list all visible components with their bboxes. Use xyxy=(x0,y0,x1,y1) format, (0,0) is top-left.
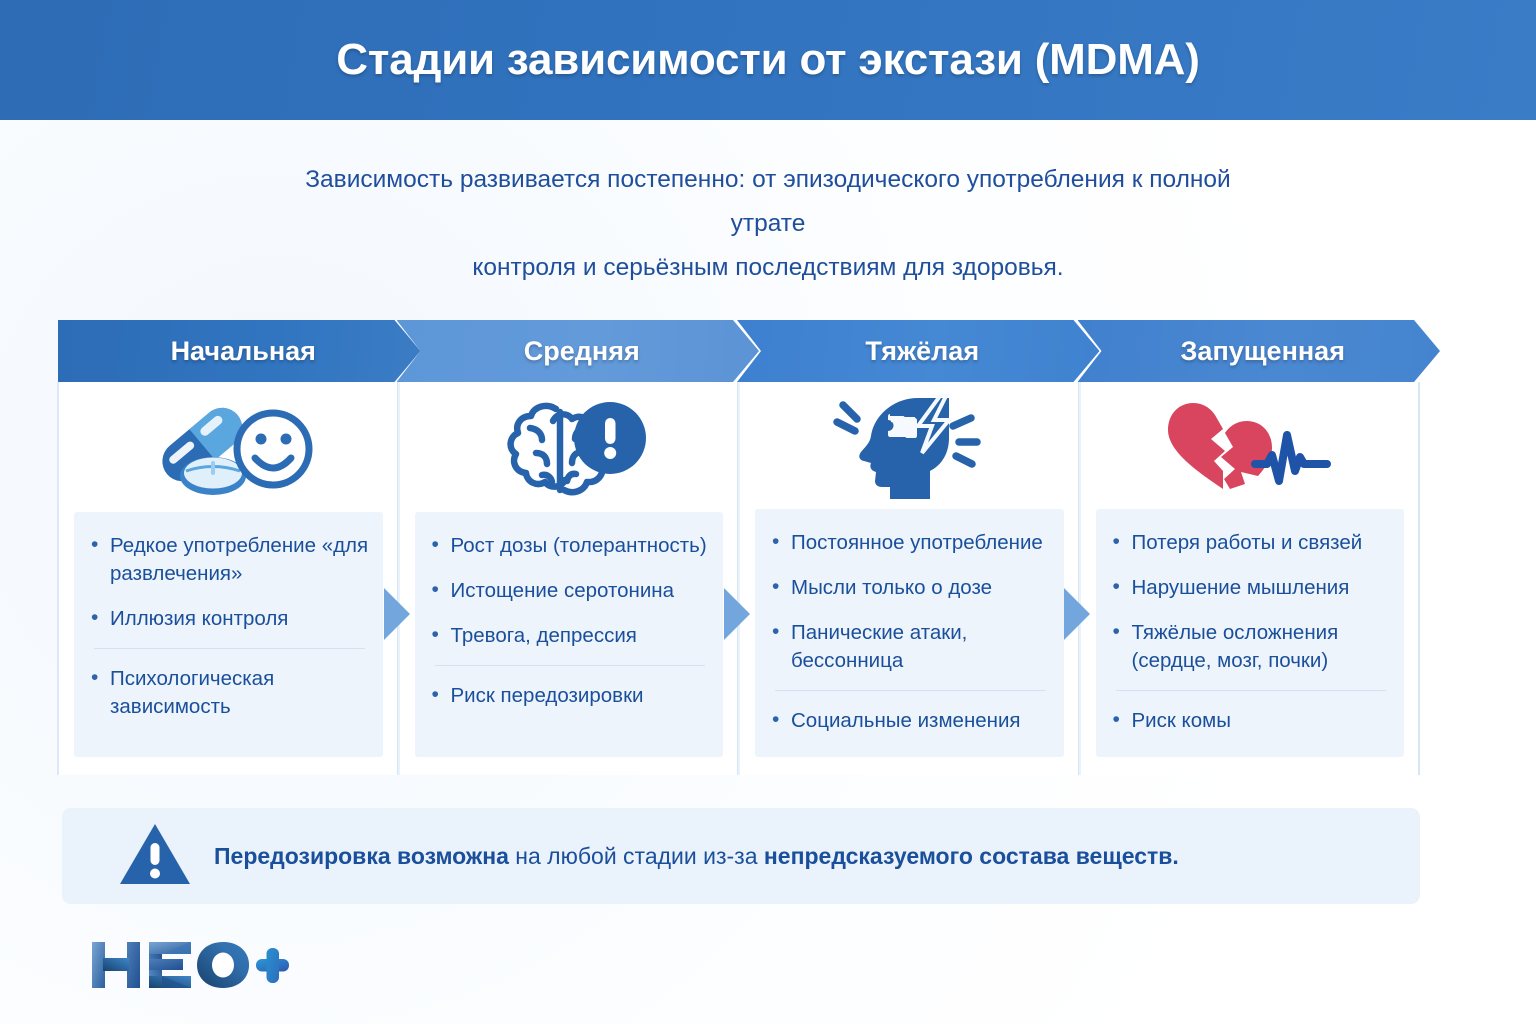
pills-smiley-icon xyxy=(141,395,316,500)
warning-text: Передозировка возможна на любой стадии и… xyxy=(214,841,1179,871)
list-item: Социальные изменения xyxy=(769,690,1050,735)
logo-neo-plus[interactable]: НЕО+ xyxy=(90,936,290,999)
list-item: Потеря работы и связей xyxy=(1110,529,1391,557)
warning-bold-start: Передозировка возможна xyxy=(214,843,509,869)
stage-label-4: Запущенная xyxy=(1181,336,1345,367)
stage-card-tyazhelaya[interactable]: Тяжёлая xyxy=(739,320,1080,775)
page-header-bar: Стадии зависимости от экстази (MDMA) xyxy=(0,0,1536,120)
infographic-page: Стадии зависимости от экстази (MDMA) Зав… xyxy=(0,0,1536,1024)
page-title: Стадии зависимости от экстази (MDMA) xyxy=(336,35,1199,85)
warning-bold-end: непредсказуемого состава веществ. xyxy=(764,843,1179,869)
list-item: Панические атаки, бессонница xyxy=(769,619,1050,675)
stage-cards: Начальная xyxy=(58,320,1420,775)
warning-triangle-icon xyxy=(118,822,192,891)
stage-card-srednyaya[interactable]: Средняя xyxy=(399,320,740,775)
list-item: Постоянное употребление xyxy=(769,529,1050,557)
list-item: Психологическая зависимость xyxy=(88,648,369,721)
stage-label-2: Средняя xyxy=(524,336,640,367)
stage-header-2[interactable]: Средняя xyxy=(397,320,760,382)
stage-header-3[interactable]: Тяжёлая xyxy=(737,320,1100,382)
stage-header-1[interactable]: Начальная xyxy=(58,320,421,382)
stages-panel: Начальная xyxy=(58,320,1420,775)
brain-alert-icon xyxy=(486,395,651,500)
broken-heart-ecg-icon xyxy=(1160,393,1340,498)
list-item: Рост дозы (толерантность) xyxy=(429,532,710,560)
head-puzzle-lightning-icon xyxy=(819,390,999,502)
subtitle: Зависимость развивается постепенно: от э… xyxy=(268,158,1268,290)
stage-icon-4-wrap xyxy=(1080,382,1421,509)
list-item: Риск комы xyxy=(1110,690,1391,735)
list-item: Риск передозировки xyxy=(429,665,710,710)
stage-bullets-4: Потеря работы и связей Нарушение мышлени… xyxy=(1096,509,1405,757)
warning-middle: на любой стадии из-за xyxy=(509,843,764,869)
list-item: Тяжёлые осложнения (сердце, мозг, почки) xyxy=(1110,619,1391,675)
stage-icon-1-wrap xyxy=(58,382,399,512)
stage-label-1: Начальная xyxy=(171,336,316,367)
list-item: Иллюзия контроля xyxy=(88,605,369,633)
list-item: Тревога, депрессия xyxy=(429,622,710,650)
stage-header-4[interactable]: Запущенная xyxy=(1078,320,1441,382)
list-item: Мысли только о дозе xyxy=(769,574,1050,602)
subtitle-line-2: контроля и серьёзным последствиям для зд… xyxy=(268,246,1268,290)
list-item: Редкое употребление «для развлечения» xyxy=(88,532,369,588)
list-item: Истощение серотонина xyxy=(429,577,710,605)
stage-card-nachalnaya[interactable]: Начальная xyxy=(58,320,399,775)
stage-bullets-3: Постоянное употребление Мысли только о д… xyxy=(755,509,1064,757)
warning-banner: Передозировка возможна на любой стадии и… xyxy=(62,808,1420,904)
stage-bullets-2: Рост дозы (толерантность) Истощение серо… xyxy=(415,512,724,757)
stage-icon-2-wrap xyxy=(399,382,740,512)
stage-bullets-1: Редкое употребление «для развлечения» Ил… xyxy=(74,512,383,757)
stage-card-zapushchennaya[interactable]: Запущенная Потеря работы и связей xyxy=(1080,320,1421,775)
stage-label-3: Тяжёлая xyxy=(865,336,979,367)
stage-icon-3-wrap xyxy=(739,382,1080,509)
list-item: Нарушение мышления xyxy=(1110,574,1391,602)
subtitle-line-1: Зависимость развивается постепенно: от э… xyxy=(268,158,1268,246)
